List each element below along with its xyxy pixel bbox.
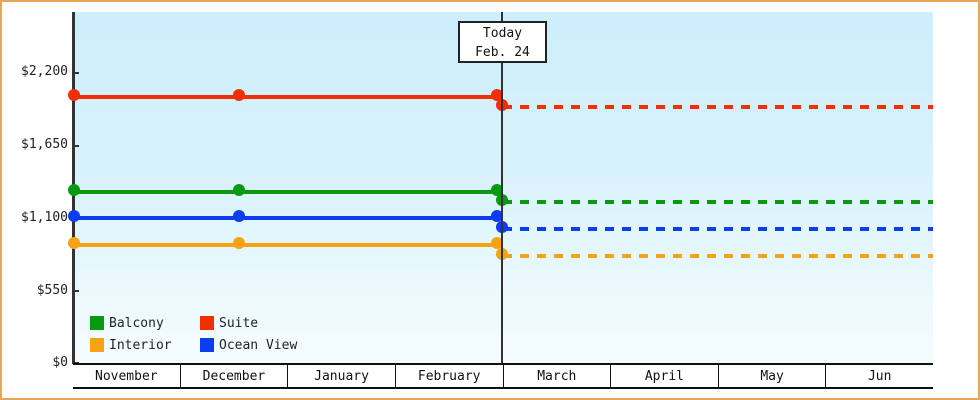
- legend-swatch-ocean-view-icon: [200, 338, 214, 352]
- legend-label-interior: Interior: [109, 338, 172, 353]
- data-point-balcony-november: [68, 184, 80, 196]
- legend-item-suite[interactable]: Suite: [200, 312, 297, 334]
- y-tick-2200: [72, 72, 79, 74]
- y-tick-label-0: $0: [6, 355, 68, 370]
- series-suite-forecast-line: [503, 105, 933, 109]
- data-point-suite-december: [233, 89, 245, 101]
- today-callout: Today Feb. 24: [458, 21, 547, 63]
- y-tick-label-550: $550: [6, 283, 68, 298]
- legend-label-ocean-view: Ocean View: [219, 338, 297, 353]
- series-ocean-view-actual-line: [74, 216, 499, 220]
- x-axis-month-january[interactable]: January: [288, 365, 396, 387]
- legend-item-interior[interactable]: Interior: [90, 334, 190, 356]
- y-tick-label-1100: $1,100: [6, 210, 68, 225]
- today-date: Feb. 24: [460, 43, 545, 62]
- x-axis-month-february[interactable]: February: [396, 365, 504, 387]
- series-balcony-actual-line: [74, 190, 499, 194]
- y-tick-550: [72, 290, 79, 292]
- series-suite-actual-line: [74, 95, 499, 99]
- data-point-interior-november: [68, 237, 80, 249]
- x-axis-month-row: November December January February March…: [73, 363, 933, 389]
- today-label: Today: [460, 24, 545, 43]
- today-vertical-line: [501, 12, 503, 363]
- x-axis-month-jun[interactable]: Jun: [826, 365, 933, 387]
- legend-swatch-balcony-icon: [90, 316, 104, 330]
- series-interior-forecast-line: [503, 254, 933, 258]
- series-interior-actual-line: [74, 243, 499, 247]
- y-tick-label-2200: $2,200: [6, 64, 68, 79]
- chart-legend: Balcony Suite Interior Ocean View: [90, 312, 297, 356]
- legend-swatch-interior-icon: [90, 338, 104, 352]
- plot-area: [74, 12, 933, 363]
- legend-label-suite: Suite: [219, 316, 258, 331]
- x-axis-month-november[interactable]: November: [73, 365, 181, 387]
- y-axis-labels: $2,200 $1,650 $1,100 $550 $0: [2, 2, 68, 400]
- series-balcony-forecast-line: [503, 200, 933, 204]
- y-tick-1650: [72, 145, 79, 147]
- legend-label-balcony: Balcony: [109, 316, 164, 331]
- x-axis-month-march[interactable]: March: [504, 365, 612, 387]
- series-ocean-view-forecast-line: [503, 227, 933, 231]
- data-point-interior-december: [233, 237, 245, 249]
- data-point-suite-november: [68, 89, 80, 101]
- x-axis-month-april[interactable]: April: [611, 365, 719, 387]
- legend-item-balcony[interactable]: Balcony: [90, 312, 190, 334]
- legend-item-ocean-view[interactable]: Ocean View: [200, 334, 297, 356]
- x-axis-month-december[interactable]: December: [181, 365, 289, 387]
- data-point-balcony-december: [233, 184, 245, 196]
- x-axis-month-may[interactable]: May: [719, 365, 827, 387]
- legend-swatch-suite-icon: [200, 316, 214, 330]
- price-forecast-chart: $2,200 $1,650 $1,100 $550 $0 Today Feb. …: [0, 0, 980, 400]
- data-point-ocean-view-november: [68, 210, 80, 222]
- data-point-ocean-view-december: [233, 210, 245, 222]
- y-tick-label-1650: $1,650: [6, 137, 68, 152]
